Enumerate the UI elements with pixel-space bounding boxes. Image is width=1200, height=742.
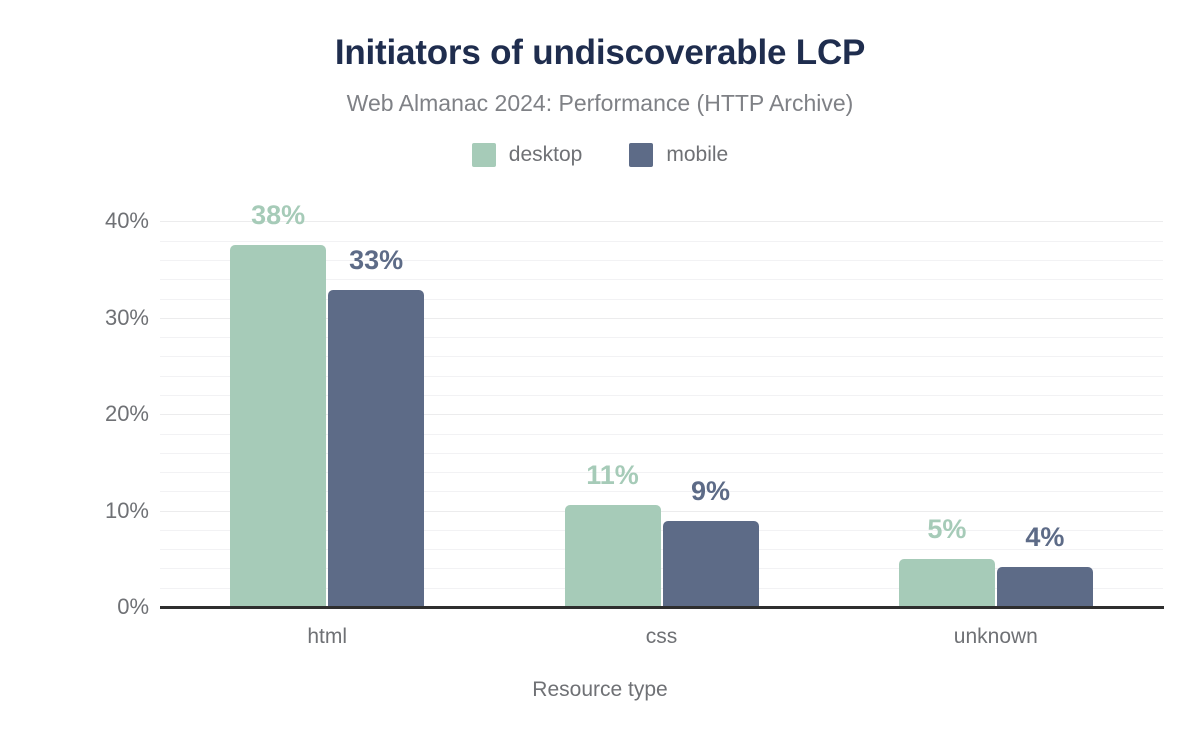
- chart-legend: desktop mobile: [0, 143, 1200, 167]
- y-axis-tick-label: 30%: [29, 305, 149, 331]
- y-axis-tick-label: 0%: [29, 594, 149, 620]
- legend-swatch-desktop: [472, 143, 496, 167]
- bar-value-label: 5%: [927, 514, 966, 545]
- chart-subtitle: Web Almanac 2024: Performance (HTTP Arch…: [0, 90, 1200, 117]
- legend-swatch-mobile: [629, 143, 653, 167]
- legend-item-desktop[interactable]: desktop: [472, 143, 583, 167]
- bar-css-desktop[interactable]: [565, 505, 661, 607]
- bar-unknown-mobile[interactable]: [997, 567, 1093, 607]
- bar-value-label: 33%: [349, 245, 403, 276]
- bar-html-mobile[interactable]: [328, 290, 424, 607]
- bar-css-mobile[interactable]: [663, 521, 759, 607]
- x-axis-tick-label: html: [307, 625, 347, 649]
- plot-area: 38%33%11%9%5%4%: [160, 207, 1163, 607]
- legend-label-desktop: desktop: [509, 143, 583, 167]
- x-axis-tick-label: unknown: [954, 625, 1038, 649]
- legend-label-mobile: mobile: [666, 143, 728, 167]
- y-axis-tick-label: 20%: [29, 401, 149, 427]
- bar-groups: 38%33%11%9%5%4%: [160, 207, 1163, 607]
- x-axis-tick-label: css: [646, 625, 678, 649]
- bar-unknown-desktop[interactable]: [899, 559, 995, 607]
- x-axis-title: Resource type: [0, 678, 1200, 702]
- chart-container: Initiators of undiscoverable LCP Web Alm…: [0, 0, 1200, 742]
- bar-value-label: 9%: [691, 476, 730, 507]
- y-axis-tick-label: 10%: [29, 498, 149, 524]
- bar-value-label: 11%: [586, 460, 639, 491]
- bar-value-label: 4%: [1025, 522, 1064, 553]
- legend-item-mobile[interactable]: mobile: [629, 143, 728, 167]
- bar-value-label: 38%: [251, 200, 305, 231]
- x-axis-line: [160, 606, 1164, 609]
- chart-title: Initiators of undiscoverable LCP: [0, 33, 1200, 73]
- y-axis-tick-label: 40%: [29, 208, 149, 234]
- bar-html-desktop[interactable]: [230, 245, 326, 607]
